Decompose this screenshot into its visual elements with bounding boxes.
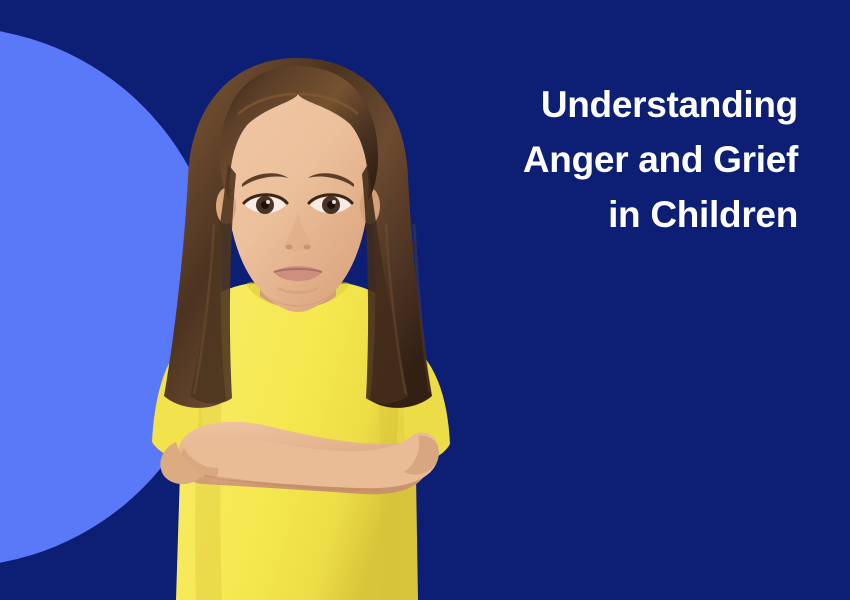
title-line-2: Anger and Grief — [438, 132, 798, 187]
title-line-1: Understanding — [438, 77, 798, 132]
page-title: Understanding Anger and Grief in Childre… — [438, 77, 798, 242]
title-line-3: in Children — [438, 187, 798, 242]
child-photo — [118, 44, 478, 600]
banner-container: Understanding Anger and Grief in Childre… — [0, 0, 850, 600]
